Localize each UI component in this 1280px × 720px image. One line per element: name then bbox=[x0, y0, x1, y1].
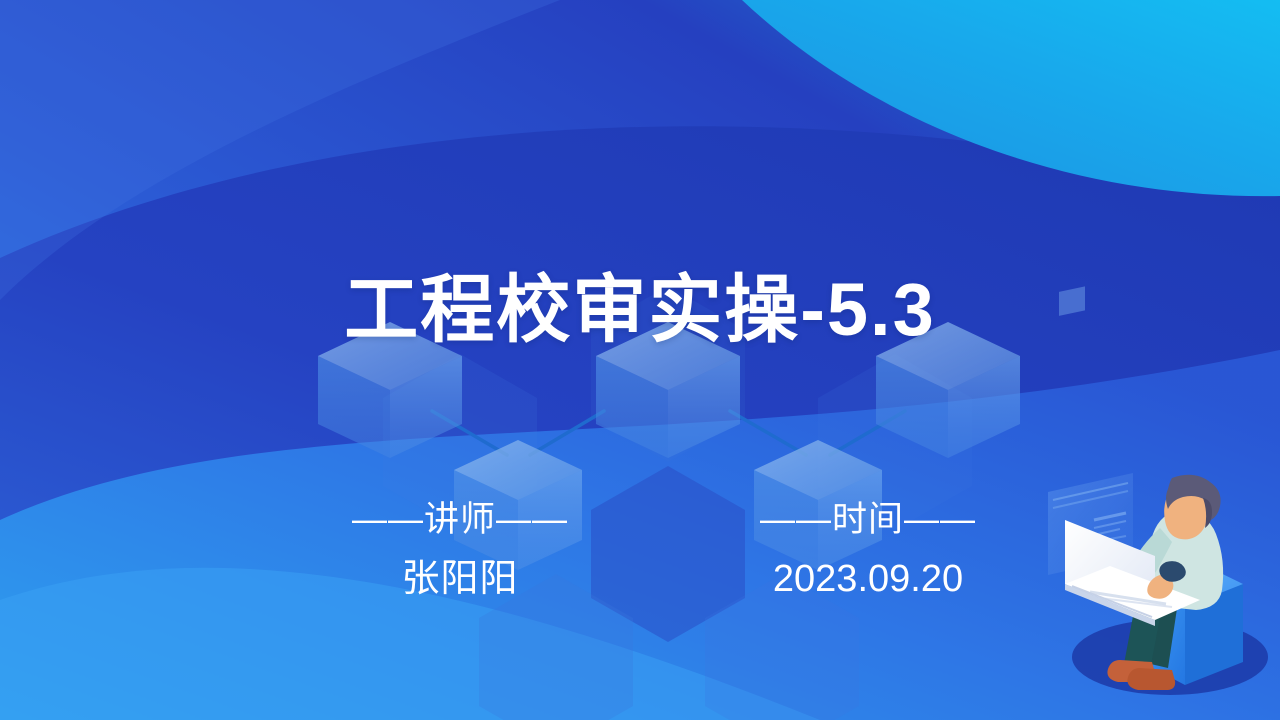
title-slide: 工程校审实操-5.3 ——讲师—— 张阳阳 ——时间—— 2023.09.20 bbox=[0, 0, 1280, 720]
speaker-block: ——讲师—— 张阳阳 bbox=[268, 498, 652, 604]
date-block: ——时间—— 2023.09.20 bbox=[688, 498, 1048, 604]
date-value: 2023.09.20 bbox=[688, 554, 1048, 604]
speaker-name: 张阳阳 bbox=[268, 554, 652, 604]
page-title: 工程校审实操-5.3 bbox=[0, 264, 1280, 356]
speaker-label: ——讲师—— bbox=[268, 498, 652, 542]
date-label: ——时间—— bbox=[688, 498, 1048, 542]
slide-content: 工程校审实操-5.3 ——讲师—— 张阳阳 ——时间—— 2023.09.20 bbox=[0, 0, 1280, 720]
